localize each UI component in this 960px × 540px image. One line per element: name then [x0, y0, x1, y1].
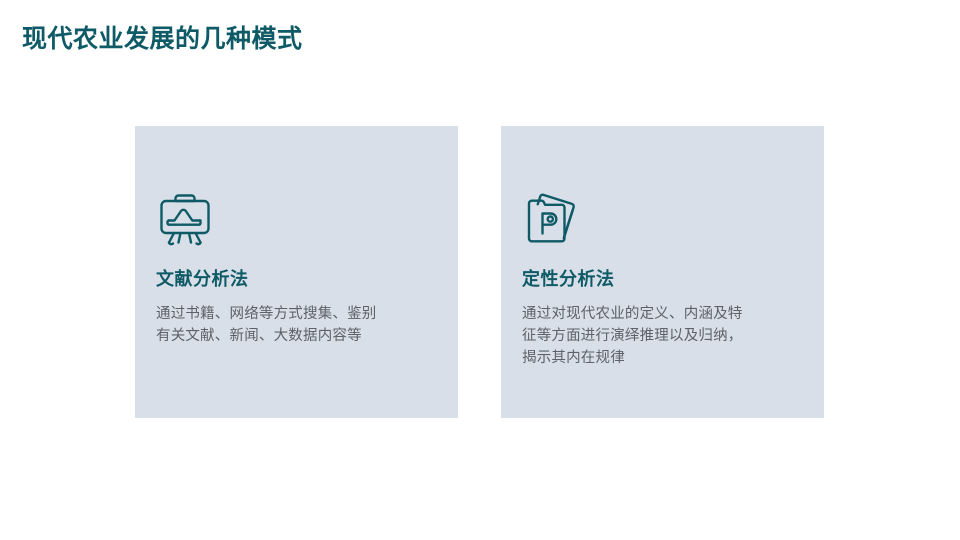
- card-dingxing-fenxifa[interactable]: 定性分析法 通过对现代农业的定义、内涵及特 征等方面进行演绎推理以及归纳， 揭示…: [501, 126, 824, 418]
- card-heading: 定性分析法: [522, 269, 615, 291]
- card-body: 通过书籍、网络等方式搜集、鉴别 有关文献、新闻、大数据内容等: [156, 303, 442, 347]
- card-body: 通过对现代农业的定义、内涵及特 征等方面进行演绎推理以及归纳， 揭示其内在规律: [522, 303, 808, 369]
- card-body-line: 通过书籍、网络等方式搜集、鉴别: [156, 303, 442, 325]
- card-body-line: 揭示其内在规律: [522, 347, 808, 369]
- card-body-line: 通过对现代农业的定义、内涵及特: [522, 303, 808, 325]
- folder-p-icon: [523, 191, 579, 249]
- card-heading: 文献分析法: [156, 269, 249, 291]
- card-group: 文献分析法 通过书籍、网络等方式搜集、鉴别 有关文献、新闻、大数据内容等: [135, 126, 825, 418]
- card-wenxian-fenxifa[interactable]: 文献分析法 通过书籍、网络等方式搜集、鉴别 有关文献、新闻、大数据内容等: [135, 126, 458, 418]
- card-body-line: 有关文献、新闻、大数据内容等: [156, 325, 442, 347]
- presentation-board-chart-icon: [157, 191, 213, 249]
- card-body-line: 征等方面进行演绎推理以及归纳，: [522, 325, 808, 347]
- slide: 现代农业发展的几种模式: [0, 0, 960, 540]
- page-title: 现代农业发展的几种模式: [22, 25, 303, 54]
